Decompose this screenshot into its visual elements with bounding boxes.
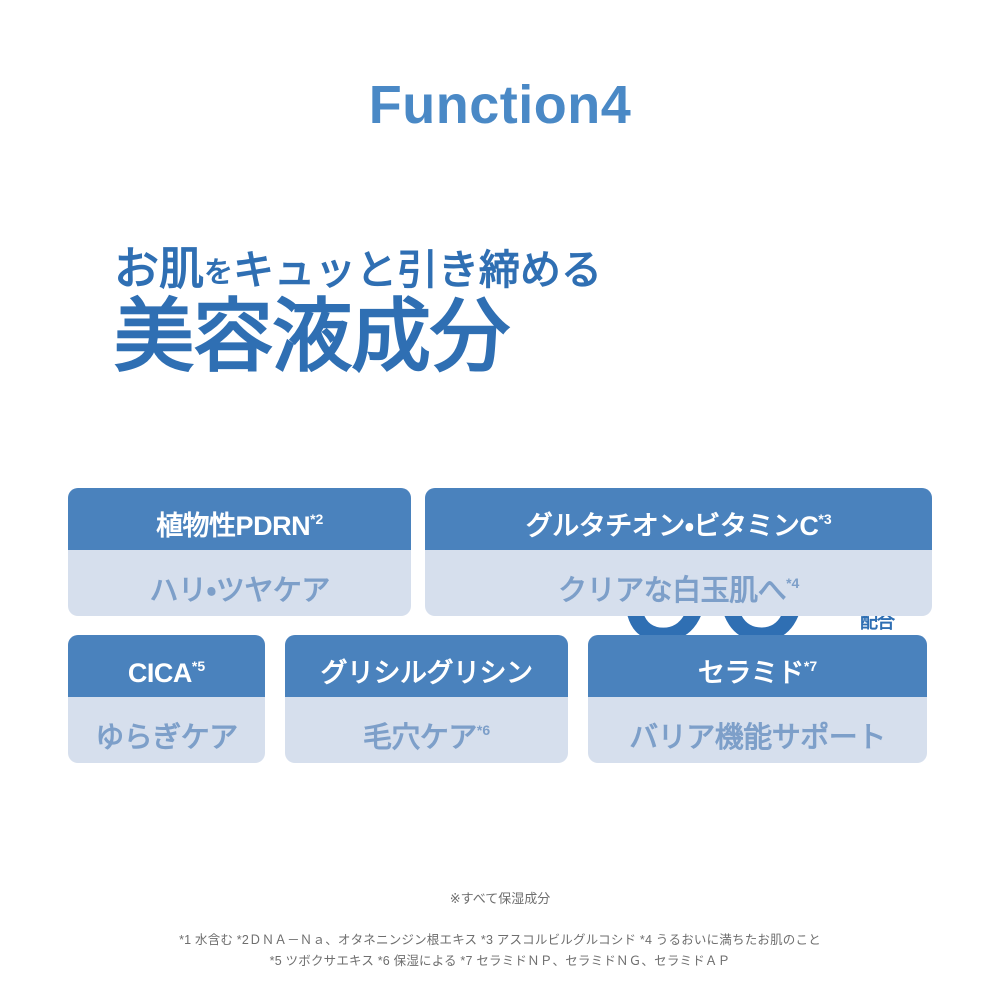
footnote-details: *1 水含む *2ＤＮＡ－Ｎａ、オタネニンジン根エキス *3 アスコルビルグルコ… bbox=[0, 930, 1000, 971]
card-cica-header-label: CICA bbox=[128, 658, 192, 688]
headline-line-1-prefix: お肌 bbox=[114, 243, 204, 294]
card-pdrn-body-label: ハリ・ツヤケア bbox=[150, 575, 330, 607]
page-title: Function4 bbox=[0, 78, 1000, 132]
headline-block: お肌をキュッと引き締める 美容液成分 90 *1 % 配合 bbox=[0, 245, 1000, 445]
headline-text-group: お肌をキュッと引き締める 美容液成分 bbox=[114, 245, 754, 378]
card-glutathione-header-label: グルタチオン・ビタミンC bbox=[526, 511, 819, 541]
card-cica-body-label: ゆらぎケア bbox=[95, 722, 238, 754]
headline-line-1-rest: キュッと引き締める bbox=[233, 247, 602, 293]
card-glutathione-header: グルタチオン・ビタミンC*3 bbox=[425, 488, 932, 550]
card-cica-header-sup: *5 bbox=[192, 658, 205, 674]
card-ceramide-header-label: セラミド bbox=[698, 658, 804, 688]
card-cica[interactable]: CICA*5 ゆらぎケア bbox=[68, 635, 265, 763]
card-glycylglycine[interactable]: グリシルグリシン 毛穴ケア*6 bbox=[285, 635, 568, 763]
card-glutathione-body: クリアな白玉肌へ*4 bbox=[425, 550, 932, 616]
card-ceramide-body: バリア機能サポート bbox=[588, 697, 927, 763]
card-glycylglycine-body-sup: *6 bbox=[477, 722, 490, 738]
card-pdrn[interactable]: 植物性PDRN*2 ハリ・ツヤケア bbox=[68, 488, 411, 616]
card-glutathione-body-sup: *4 bbox=[786, 575, 799, 591]
card-glutathione-header-sup: *3 bbox=[818, 511, 831, 527]
card-pdrn-header-label: 植物性PDRN bbox=[156, 511, 310, 541]
footnote-all-moisturizing: ※すべて保湿成分 bbox=[0, 888, 1000, 907]
card-cica-body: ゆらぎケア bbox=[68, 697, 265, 763]
card-glycylglycine-header: グリシルグリシン bbox=[285, 635, 568, 697]
card-row-2: CICA*5 ゆらぎケア グリシルグリシン 毛穴ケア*6 セラミド*7 バリア機… bbox=[0, 635, 1000, 763]
card-cica-header: CICA*5 bbox=[68, 635, 265, 697]
card-pdrn-header: 植物性PDRN*2 bbox=[68, 488, 411, 550]
ingredient-cards: 植物性PDRN*2 ハリ・ツヤケア グルタチオン・ビタミンC*3 クリアな白玉肌… bbox=[0, 488, 1000, 763]
footnote-line-1: *1 水含む *2ＤＮＡ－Ｎａ、オタネニンジン根エキス *3 アスコルビルグルコ… bbox=[0, 930, 1000, 951]
card-glutathione-vitaminc[interactable]: グルタチオン・ビタミンC*3 クリアな白玉肌へ*4 bbox=[425, 488, 932, 616]
card-ceramide-body-label: バリア機能サポート bbox=[629, 722, 886, 754]
card-pdrn-header-sup: *2 bbox=[310, 511, 323, 527]
card-glycylglycine-body: 毛穴ケア*6 bbox=[285, 697, 568, 763]
card-glutathione-body-label: クリアな白玉肌へ bbox=[558, 575, 786, 607]
page-title-container: Function4 bbox=[0, 78, 1000, 132]
card-glycylglycine-header-label: グリシルグリシン bbox=[321, 658, 533, 688]
card-ceramide-header-sup: *7 bbox=[804, 658, 817, 674]
card-glycylglycine-body-label: 毛穴ケア bbox=[363, 722, 477, 754]
card-ceramide[interactable]: セラミド*7 バリア機能サポート bbox=[588, 635, 927, 763]
headline-line-1-particle: を bbox=[204, 257, 233, 289]
footnote-line-2: *5 ツボクサエキス *6 保湿による *7 セラミドＮＰ、セラミドＮＧ、セラミ… bbox=[0, 951, 1000, 972]
headline-line-1: お肌をキュッと引き締める bbox=[114, 245, 754, 292]
card-row-1: 植物性PDRN*2 ハリ・ツヤケア グルタチオン・ビタミンC*3 クリアな白玉肌… bbox=[0, 488, 1000, 616]
card-ceramide-header: セラミド*7 bbox=[588, 635, 927, 697]
card-pdrn-body: ハリ・ツヤケア bbox=[68, 550, 411, 616]
headline-line-2: 美容液成分 bbox=[114, 296, 754, 378]
